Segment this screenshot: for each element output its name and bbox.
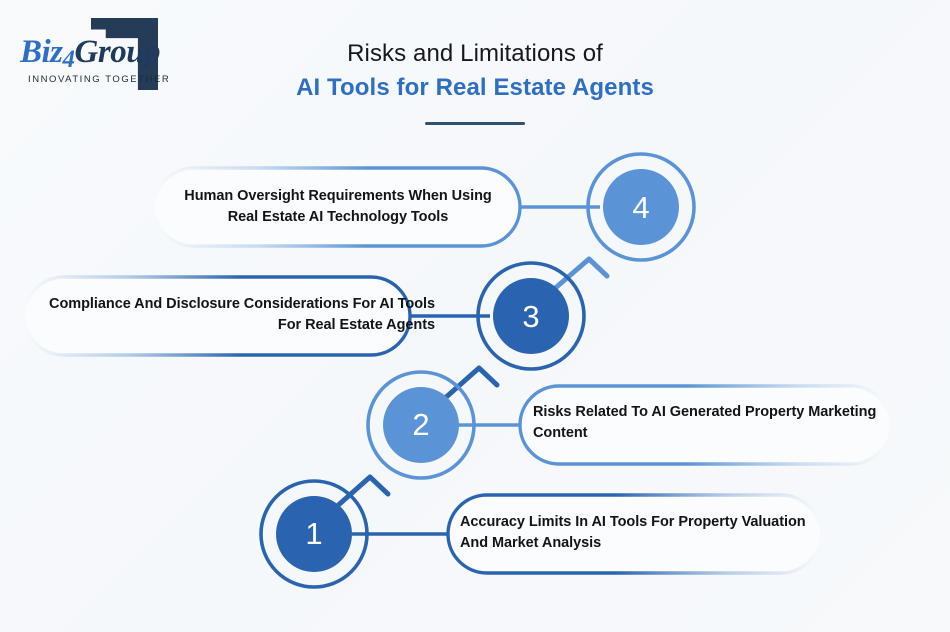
item-1-number: 1 bbox=[285, 518, 343, 549]
item-4-label: Human Oversight Requirements When Using … bbox=[168, 186, 508, 228]
infographic-canvas: Biz4Group INNOVATING TOGETHER Risks and … bbox=[0, 0, 950, 632]
item-3-label: Compliance And Disclosure Considerations… bbox=[40, 294, 435, 336]
item-4-number: 4 bbox=[612, 192, 670, 223]
item-1-label: Accuracy Limits In AI Tools For Property… bbox=[460, 512, 810, 554]
item-2-label: Risks Related To AI Generated Property M… bbox=[533, 402, 883, 444]
item-2-number: 2 bbox=[392, 409, 450, 440]
item-3-number: 3 bbox=[502, 301, 560, 332]
connector-1-to-2 bbox=[335, 477, 388, 508]
